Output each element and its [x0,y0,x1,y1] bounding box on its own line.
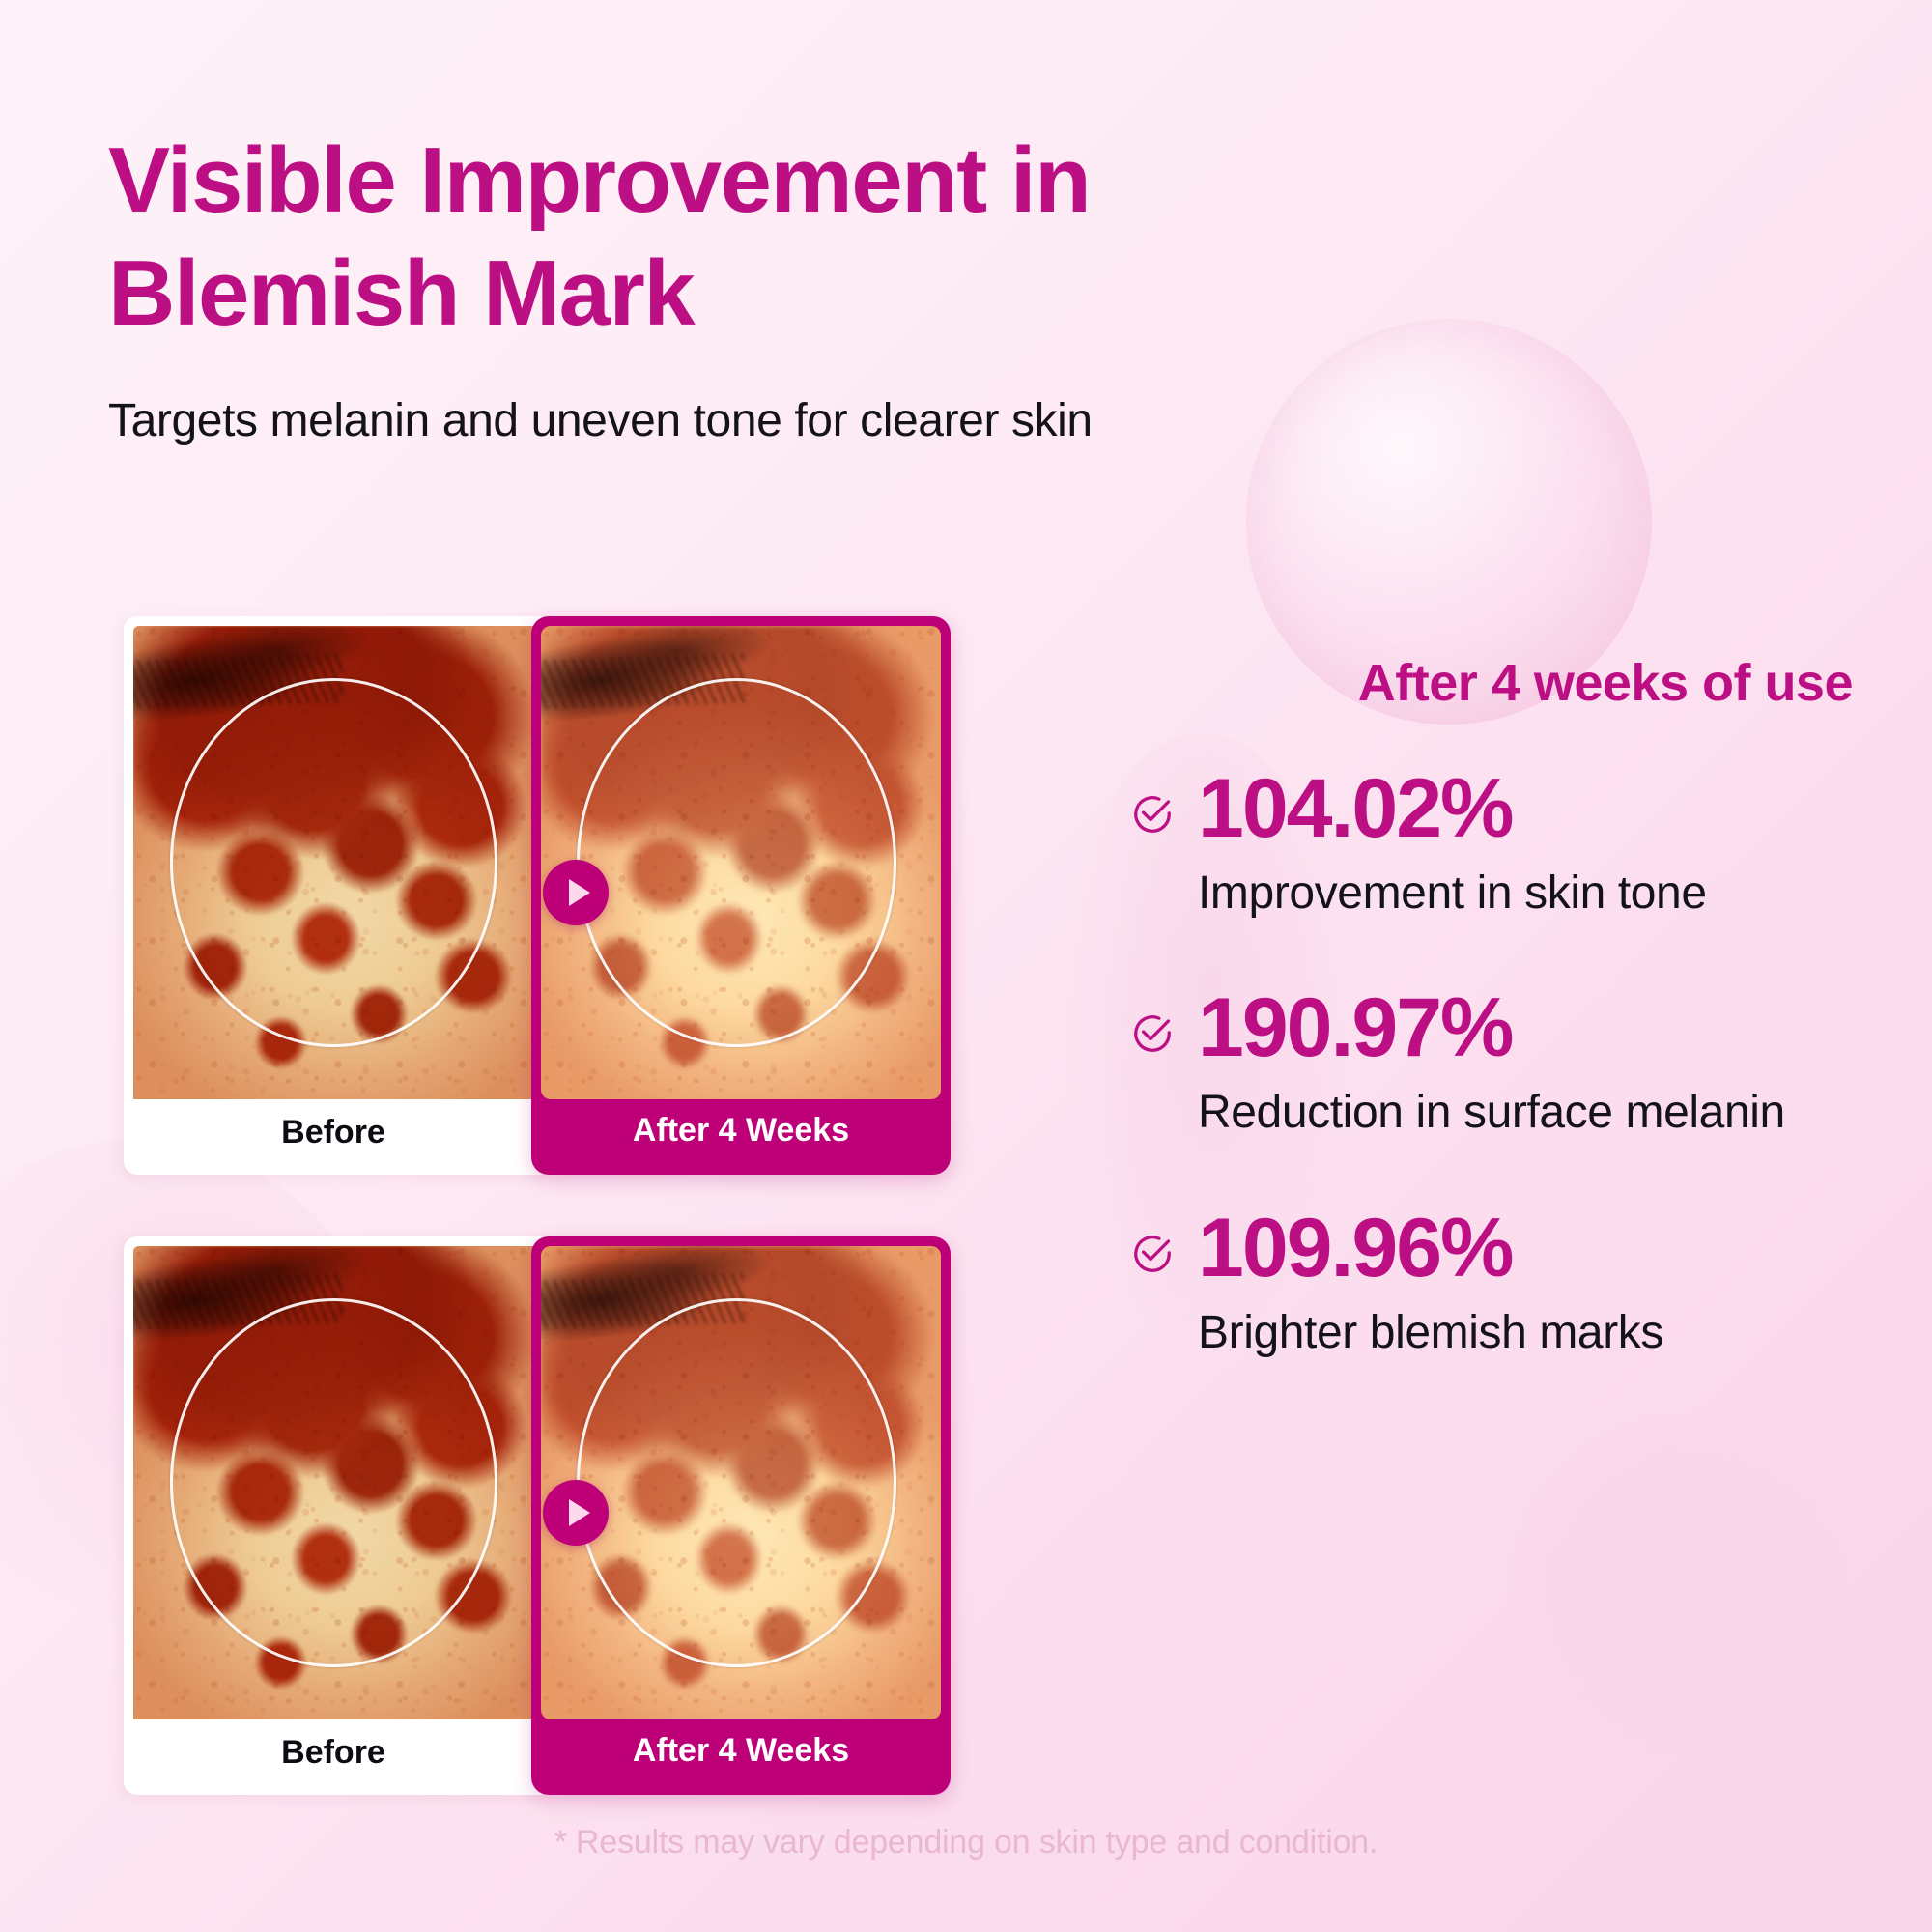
decorative-blob-right [1507,1410,1855,1758]
stat-value: 190.97% [1198,986,1864,1069]
after-caption-2: After 4 Weeks [531,1708,951,1793]
focus-ellipse-icon [577,1298,896,1667]
before-photo-2 [133,1246,543,1719]
stat-item: 104.02% Improvement in skin tone [1130,767,1864,923]
circle-check-icon [1130,1011,1175,1056]
stat-item: 190.97% Reduction in surface melanin [1130,986,1864,1142]
comparison-row-1: Before After 4 Weeks [124,616,1012,1175]
before-pane-2[interactable]: Before [124,1236,543,1795]
page-subtitle: Targets melanin and uneven tone for clea… [108,394,1461,447]
stats-heading: After 4 weeks of use [1130,653,1864,713]
comparison-row-2: Before After 4 Weeks [124,1236,1012,1795]
play-arrow-icon[interactable] [543,1480,609,1546]
page-title: Visible Improvement in Blemish Mark [108,124,1190,350]
circle-check-icon [1130,792,1175,837]
stat-value: 104.02% [1198,767,1864,850]
footnote-disclaimer: * Results may vary depending on skin typ… [0,1824,1932,1861]
after-caption-1: After 4 Weeks [531,1088,951,1173]
stat-label: Brighter blemish marks [1198,1303,1835,1362]
header-block: Visible Improvement in Blemish Mark Targ… [108,124,1461,447]
stat-label: Improvement in skin tone [1198,864,1835,923]
after-photo-1 [541,626,941,1099]
circle-check-icon [1130,1232,1175,1276]
before-caption-1: Before [124,1090,543,1175]
play-triangle-icon [569,1499,590,1526]
before-caption-2: Before [124,1710,543,1795]
after-photo-2 [541,1246,941,1719]
focus-ellipse-icon [170,1298,497,1667]
before-after-stack: Before After 4 Weeks Before [124,616,1012,1795]
play-arrow-icon[interactable] [543,860,609,925]
play-triangle-icon [569,879,590,906]
focus-ellipse-icon [577,678,896,1047]
stats-panel: After 4 weeks of use 104.02% Improvement… [1130,653,1864,1362]
stat-label: Reduction in surface melanin [1198,1083,1835,1142]
before-photo-1 [133,626,543,1099]
before-pane-1[interactable]: Before [124,616,543,1175]
stat-item: 109.96% Brighter blemish marks [1130,1207,1864,1362]
focus-ellipse-icon [170,678,497,1047]
stat-value: 109.96% [1198,1207,1864,1290]
